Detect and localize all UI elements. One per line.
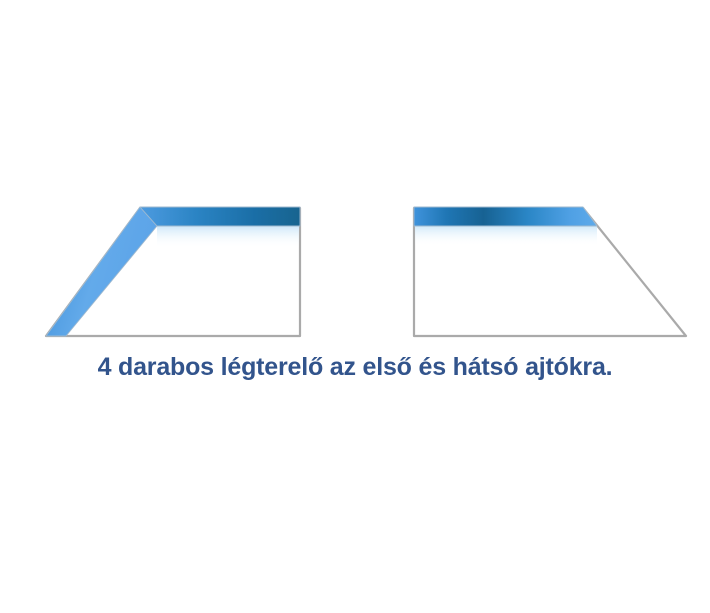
- illustration-stage: 4 darabos légterelő az első és hátsó ajt…: [0, 0, 710, 613]
- front-door-window: [46, 207, 300, 336]
- rear-door-window: [414, 207, 686, 336]
- rear-door-deflector-top: [414, 207, 597, 226]
- front-door-deflector-top: [140, 207, 300, 226]
- deflector-diagram: [0, 0, 710, 613]
- rear-door-inner-glow: [415, 226, 597, 246]
- caption-text: 4 darabos légterelő az első és hátsó ajt…: [0, 352, 710, 382]
- front-door-inner-glow: [157, 226, 299, 248]
